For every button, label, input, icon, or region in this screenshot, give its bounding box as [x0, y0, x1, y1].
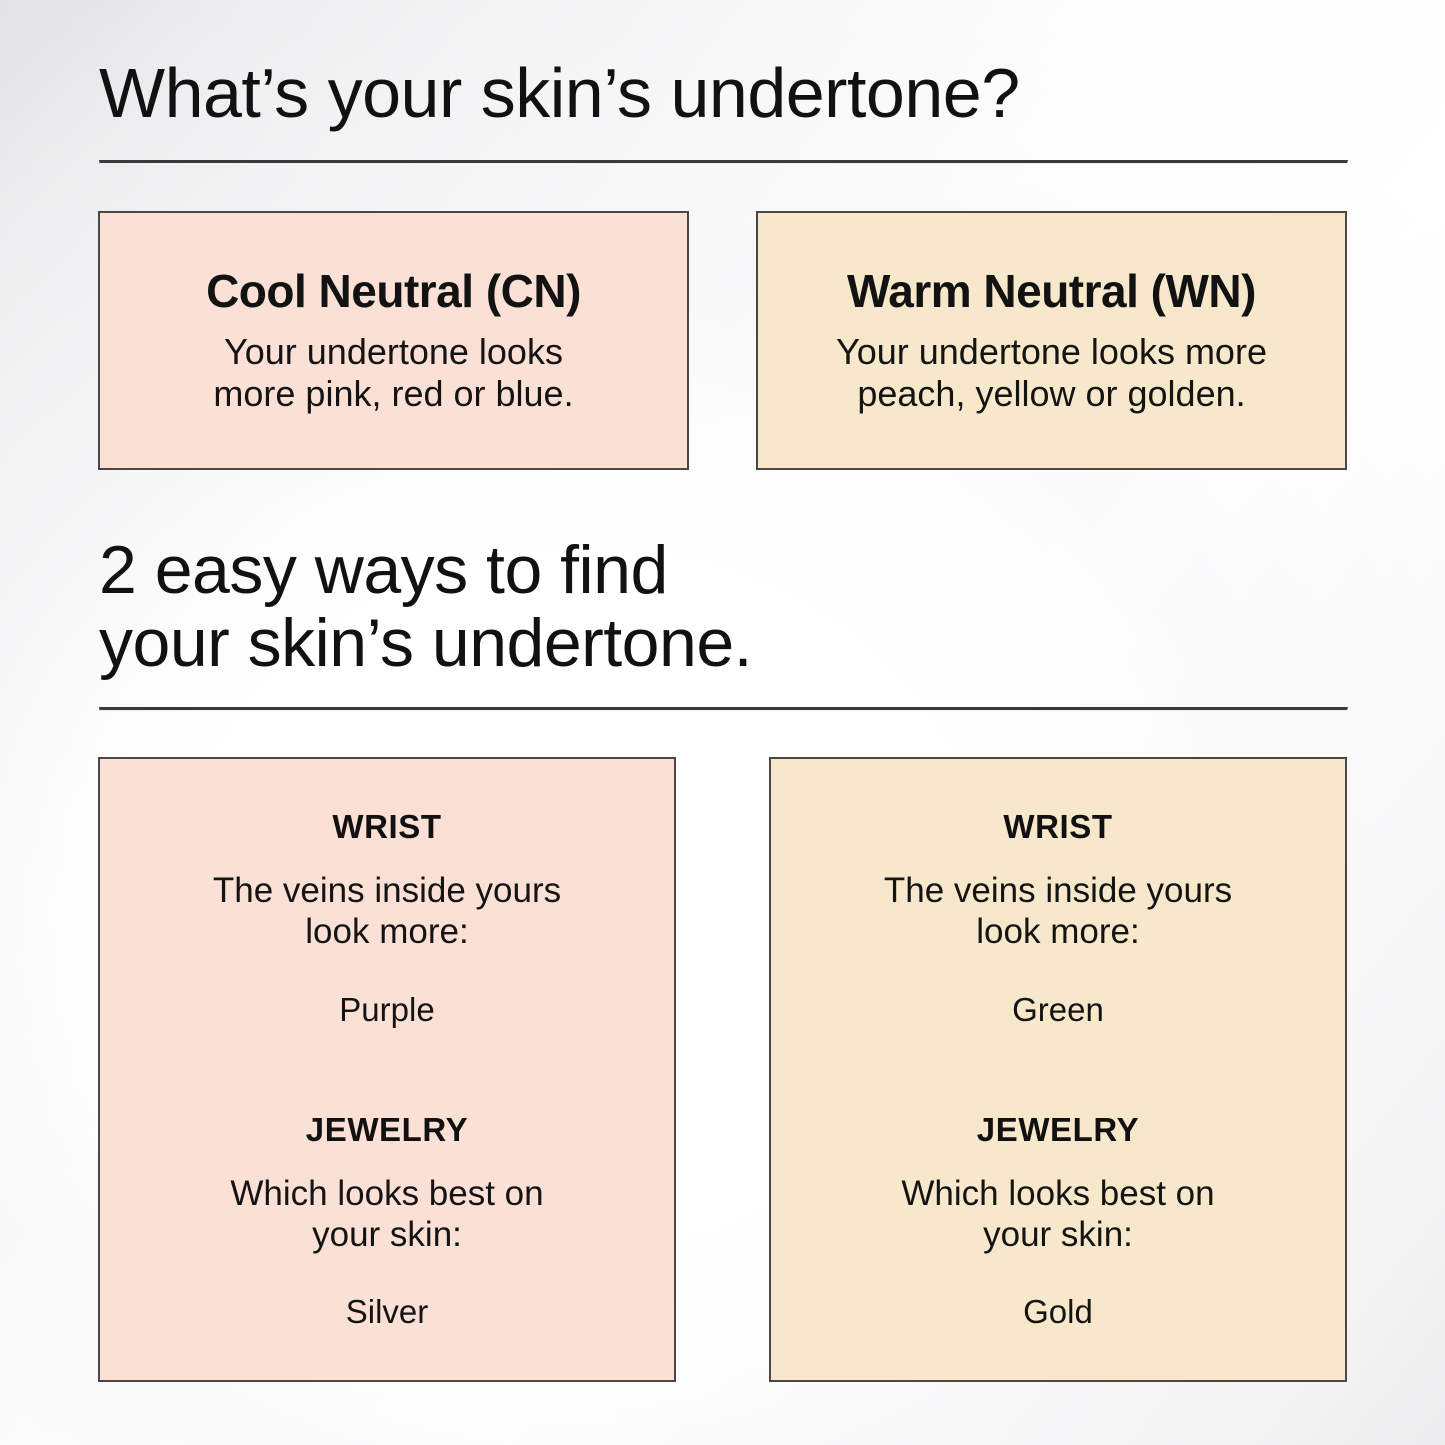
test-answer-jewelry: Gold: [1023, 1293, 1093, 1331]
test-card-cool[interactable]: WRIST The veins inside yours look more: …: [98, 757, 676, 1382]
test-section-jewelry-cool: JEWELRY Which looks best on your skin: S…: [118, 1111, 656, 1332]
test-label-wrist: WRIST: [332, 808, 441, 846]
test-label-jewelry: JEWELRY: [977, 1111, 1140, 1149]
section-divider: [99, 707, 1348, 711]
test-card-row: WRIST The veins inside yours look more: …: [98, 757, 1347, 1382]
page-title-block: What’s your skin’s undertone?: [99, 56, 1346, 164]
page-title: What’s your skin’s undertone?: [99, 56, 1346, 132]
test-label-wrist: WRIST: [1003, 808, 1112, 846]
test-question-jewelry: Which looks best on your skin:: [230, 1173, 543, 1256]
test-question-wrist: The veins inside yours look more:: [884, 870, 1232, 953]
section-title-block: 2 easy ways to find your skin’s underton…: [99, 534, 1346, 711]
undertone-card-description: Your undertone looks more pink, red or b…: [213, 331, 573, 415]
test-question-wrist: The veins inside yours look more:: [213, 870, 561, 953]
test-section-jewelry-warm: JEWELRY Which looks best on your skin: G…: [789, 1111, 1327, 1332]
test-section-wrist-warm: WRIST The veins inside yours look more: …: [789, 808, 1327, 1029]
undertone-infographic: What’s your skin’s undertone? Cool Neutr…: [0, 0, 1445, 1445]
test-question-jewelry: Which looks best on your skin:: [901, 1173, 1214, 1256]
section-title: 2 easy ways to find your skin’s underton…: [99, 534, 1346, 681]
undertone-card-heading: Cool Neutral (CN): [206, 266, 581, 317]
test-answer-jewelry: Silver: [346, 1293, 429, 1331]
test-answer-wrist: Green: [1012, 991, 1104, 1029]
undertone-card-description: Your undertone looks more peach, yellow …: [836, 331, 1267, 415]
undertone-card-warm-neutral[interactable]: Warm Neutral (WN) Your undertone looks m…: [756, 211, 1347, 470]
test-section-wrist-cool: WRIST The veins inside yours look more: …: [118, 808, 656, 1029]
test-answer-wrist: Purple: [339, 991, 434, 1029]
undertone-card-heading: Warm Neutral (WN): [847, 266, 1256, 317]
undertone-card-cool-neutral[interactable]: Cool Neutral (CN) Your undertone looks m…: [98, 211, 689, 470]
undertone-card-row: Cool Neutral (CN) Your undertone looks m…: [98, 211, 1347, 470]
test-label-jewelry: JEWELRY: [306, 1111, 469, 1149]
test-card-warm[interactable]: WRIST The veins inside yours look more: …: [769, 757, 1347, 1382]
title-divider: [99, 160, 1348, 164]
